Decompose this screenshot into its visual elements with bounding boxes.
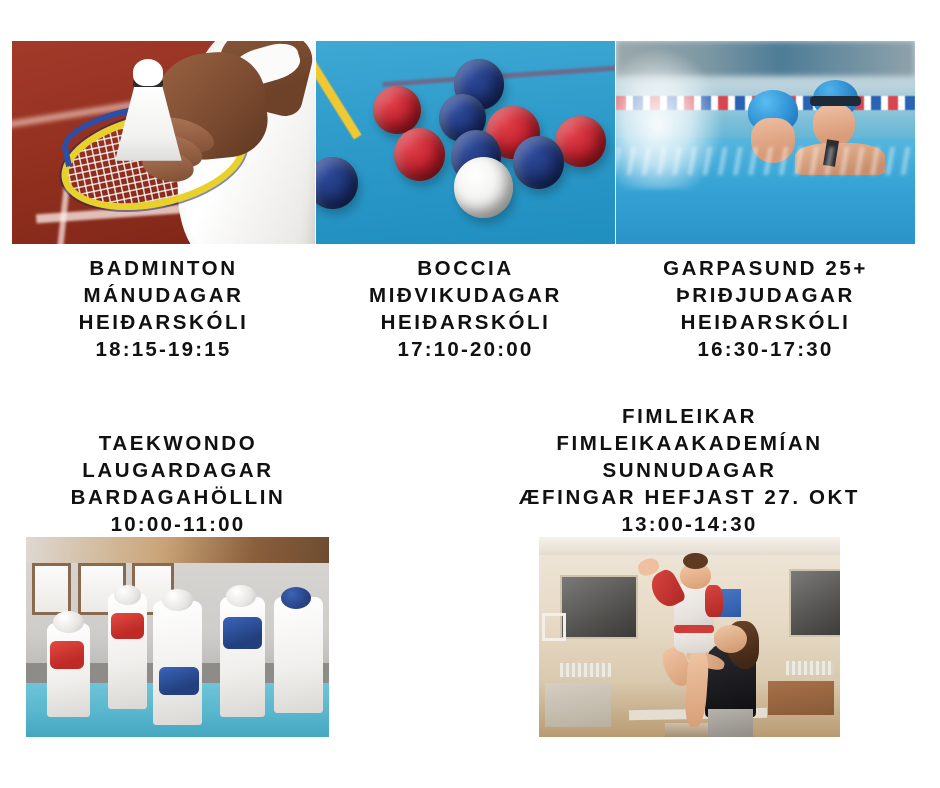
activity-time: 17:10-20:00 <box>316 336 615 363</box>
radiator <box>560 663 611 677</box>
gym-ceiling <box>539 537 840 555</box>
swimming-photo <box>616 41 915 244</box>
chest-guard-blue <box>223 617 262 649</box>
window <box>32 563 71 615</box>
gymnast-arm <box>705 585 723 617</box>
boccia-ball-red <box>373 86 421 135</box>
gymnastics-photo <box>539 537 840 737</box>
boccia-jack-ball-white <box>454 157 514 218</box>
chest-guard-blue <box>159 667 198 695</box>
activity-day: MIÐVIKUDAGAR <box>316 282 615 309</box>
gym-equipment-box <box>545 683 611 727</box>
activity-venue: HEIÐARSKÓLI <box>316 309 615 336</box>
activity-time: 16:30-17:30 <box>616 336 915 363</box>
poster-canvas: BADMINTON MÁNUDAGAR HEIÐARSKÓLI 18:15-19… <box>0 0 940 788</box>
headgear-white <box>114 585 141 605</box>
leotard-sash <box>674 625 713 633</box>
student-uniform <box>108 593 147 709</box>
activity-venue: HEIÐARSKÓLI <box>616 309 915 336</box>
activity-note: ÆFINGAR HEFJAST 27. OKT <box>438 484 940 511</box>
student-uniform <box>274 597 322 713</box>
activity-name: FIMLEIKAR <box>438 403 940 430</box>
activity-name: TAEKWONDO <box>0 430 356 457</box>
taekwondo-photo <box>26 537 329 737</box>
badminton-photo <box>12 41 315 244</box>
wall-picture <box>560 575 638 639</box>
shuttlecock-head <box>133 59 163 85</box>
water-splash <box>616 47 724 189</box>
chest-guard-red <box>50 641 83 669</box>
card-caption-boccia: BOCCIA MIÐVIKUDAGAR HEIÐARSKÓLI 17:10-20… <box>316 255 615 363</box>
wall-frame <box>542 613 566 641</box>
card-caption-swimming: GARPASUND 25+ ÞRIÐJUDAGAR HEIÐARSKÓLI 16… <box>616 255 915 363</box>
activity-day: SUNNUDAGAR <box>438 457 940 484</box>
activity-name: BADMINTON <box>12 255 315 282</box>
gymnast-hair-bun <box>683 553 707 569</box>
goggles-icon <box>810 96 861 106</box>
card-caption-gymnastics: FIMLEIKAR FIMLEIKAAKADEMÍAN SUNNUDAGAR Æ… <box>438 403 940 538</box>
activity-club: FIMLEIKAAKADEMÍAN <box>438 430 940 457</box>
student-uniform <box>153 601 201 725</box>
headgear-blue <box>281 587 311 609</box>
coach-shorts <box>708 709 753 737</box>
activity-day: LAUGARDAGAR <box>0 457 356 484</box>
activity-time: 18:15-19:15 <box>12 336 315 363</box>
student-uniform <box>47 623 89 717</box>
boccia-ball-blue <box>513 136 564 189</box>
activity-time: 13:00-14:30 <box>438 511 940 538</box>
chest-guard-red <box>111 613 144 639</box>
headgear-white <box>53 611 83 633</box>
radiator <box>786 661 834 675</box>
boccia-photo <box>316 41 615 244</box>
activity-day: ÞRIÐJUDAGAR <box>616 282 915 309</box>
wooden-ceiling <box>26 537 329 563</box>
boccia-ball-red <box>394 128 445 181</box>
gym-equipment-box <box>768 681 834 715</box>
wall-picture <box>789 569 840 637</box>
activity-name: GARPASUND 25+ <box>616 255 915 282</box>
card-caption-taekwondo: TAEKWONDO LAUGARDAGAR BARDAGAHÖLLIN 10:0… <box>0 430 356 538</box>
activity-day: MÁNUDAGAR <box>12 282 315 309</box>
card-caption-badminton: BADMINTON MÁNUDAGAR HEIÐARSKÓLI 18:15-19… <box>12 255 315 363</box>
coach-head <box>714 625 747 653</box>
activity-venue: BARDAGAHÖLLIN <box>0 484 356 511</box>
headgear-white <box>226 585 256 607</box>
headgear-white <box>162 589 192 611</box>
student-uniform <box>220 597 265 717</box>
activity-name: BOCCIA <box>316 255 615 282</box>
activity-time: 10:00-11:00 <box>0 511 356 538</box>
activity-venue: HEIÐARSKÓLI <box>12 309 315 336</box>
